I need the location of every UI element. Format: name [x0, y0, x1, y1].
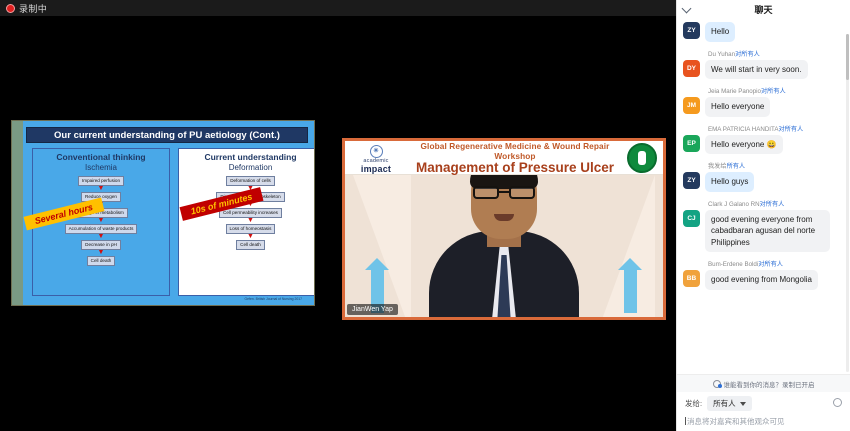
- slide-citation: Gefen. British Journal of Nursing 2017: [245, 297, 302, 301]
- un-globe-icon: ✷: [370, 145, 383, 158]
- workshop-title: Management of Pressure Ulcer: [403, 160, 627, 175]
- sender-name: Bum-Erdene Boldi: [708, 261, 758, 268]
- column-heading: Current understanding Deformation: [179, 149, 315, 173]
- person-info-icon: [713, 380, 721, 388]
- avatar: JM: [683, 97, 700, 114]
- column-heading-text: Conventional thinking: [56, 152, 145, 162]
- chat-send-to-row: 发给: 所有人: [677, 392, 850, 413]
- chat-scrollbar[interactable]: [846, 34, 849, 372]
- chat-message: EMA PATRICIA HANDITA对所有人EPHello everyone…: [683, 124, 840, 155]
- chat-message-list[interactable]: ZYHelloDu Yuhan对所有人DYWe will start in ve…: [677, 18, 850, 374]
- chat-message-bubble: We will start in very soon.: [705, 60, 808, 80]
- chevron-down-icon: [740, 402, 746, 406]
- chat-scrollbar-thumb[interactable]: [846, 34, 849, 80]
- avatar: ZY: [683, 172, 700, 189]
- sender-name: Du Yuhan: [708, 51, 735, 58]
- speaker-name-tag: JianWen Yap: [347, 304, 398, 315]
- chat-message: 我发给所有人ZYHello guys: [683, 161, 840, 192]
- chat-message-sender: Jeia Marie Panopio对所有人: [708, 86, 840, 95]
- chat-message-row: EPHello everyone 😀: [683, 135, 840, 155]
- slide-title: Our current understanding of PU aetiolog…: [26, 127, 308, 143]
- avatar: DY: [683, 60, 700, 77]
- chat-compose-placeholder: 消息将对嘉宾和其他观众可见: [687, 417, 785, 426]
- chat-message-bubble: Hello everyone 😀: [705, 135, 783, 155]
- chat-message-sender: 我发给所有人: [708, 161, 840, 170]
- slide-content: Our current understanding of PU aetiolog…: [11, 120, 315, 306]
- chat-header: 聊天: [677, 0, 850, 18]
- chat-compose-input[interactable]: 消息将对嘉宾和其他观众可见: [677, 413, 850, 431]
- organization-emblem-icon: [627, 143, 657, 173]
- background-arrow-right: [624, 269, 637, 313]
- chat-message-sender: EMA PATRICIA HANDITA对所有人: [708, 124, 840, 133]
- banner-titles: Global Regenerative Medicine & Wound Rep…: [403, 141, 627, 175]
- speaker-glasses-right: [509, 186, 535, 199]
- chat-messages-container: ZYHelloDu Yuhan对所有人DYWe will start in ve…: [683, 22, 840, 290]
- sender-recipient: 所有人: [727, 163, 746, 170]
- flow-node: Cell death: [87, 256, 116, 266]
- chat-message: Du Yuhan对所有人DYWe will start in very soon…: [683, 49, 840, 80]
- slide-column-current: Current understanding Deformation Deform…: [178, 148, 315, 296]
- chat-message: Jeia Marie Panopio对所有人JMHello everyone: [683, 86, 840, 117]
- sender-recipient: 对所有人: [758, 261, 783, 268]
- chat-message-row: BBgood evening from Mongolia: [683, 270, 840, 290]
- sender-name: Clark J Galano RN: [708, 201, 760, 208]
- send-to-label: 发给:: [685, 398, 702, 409]
- column-subheading-text: Deformation: [229, 163, 273, 172]
- chat-message-bubble: Hello everyone: [705, 97, 770, 117]
- slide-left-bar: [12, 121, 23, 305]
- speaker-glasses-left: [473, 186, 499, 199]
- avatar: BB: [683, 270, 700, 287]
- chat-panel: 聊天 ZYHelloDu Yuhan对所有人DYWe will start in…: [676, 0, 850, 431]
- chat-footer: 谁能看到你的消息？录制已开启 发给: 所有人 消息将对嘉宾和其他观众可见: [677, 374, 850, 431]
- chat-message-bubble: good evening from Mongolia: [705, 270, 818, 290]
- avatar: CJ: [683, 210, 700, 227]
- chat-message-sender: Du Yuhan对所有人: [708, 49, 840, 58]
- chat-message: Clark J Galano RN对所有人CJgood evening ever…: [683, 199, 840, 253]
- shared-slide-tile[interactable]: Our current understanding of PU aetiolog…: [5, 116, 321, 312]
- send-to-value: 所有人: [713, 398, 736, 409]
- sender-recipient: 对所有人: [760, 201, 785, 208]
- speaker-person: [424, 175, 584, 317]
- sender-name: EMA PATRICIA HANDITA: [708, 126, 778, 133]
- chat-message-sender: Clark J Galano RN对所有人: [708, 199, 840, 208]
- sender-recipient: 对所有人: [735, 51, 760, 58]
- video-frame: ✷ academic impact Global Regenerative Me…: [342, 138, 666, 320]
- meeting-window: 录制中 Our current understanding of PU aeti…: [0, 0, 850, 431]
- chat-message: ZYHello: [683, 22, 840, 42]
- chat-message-row: CJgood evening everyone from cabadbaran …: [683, 210, 840, 253]
- avatar: ZY: [683, 22, 700, 39]
- sender-recipient: 对所有人: [778, 126, 803, 133]
- chat-privacy-notice-text: 谁能看到你的消息？录制已开启: [724, 379, 815, 389]
- column-heading: Conventional thinking Ischemia: [33, 149, 169, 173]
- chat-message-bubble: good evening everyone from cabadbaran ag…: [705, 210, 830, 253]
- chat-message: Bum-Erdene Boldi对所有人BBgood evening from …: [683, 259, 840, 290]
- send-to-dropdown[interactable]: 所有人: [707, 396, 752, 411]
- video-stage: Our current understanding of PU aetiolog…: [0, 16, 676, 431]
- speaker-video-tile[interactable]: ✷ academic impact Global Regenerative Me…: [338, 134, 672, 326]
- avatar: EP: [683, 135, 700, 152]
- recording-bar: 录制中: [0, 0, 676, 16]
- workshop-banner: ✷ academic impact Global Regenerative Me…: [345, 141, 663, 175]
- smiley-icon[interactable]: [833, 398, 842, 407]
- flow-node: Cell death: [236, 240, 265, 250]
- chat-privacy-notice[interactable]: 谁能看到你的消息？录制已开启: [677, 375, 850, 392]
- recording-label: 录制中: [19, 2, 47, 15]
- chat-message-bubble: Hello guys: [705, 172, 754, 192]
- chat-message-row: ZYHello: [683, 22, 840, 42]
- chat-message-bubble: Hello: [705, 22, 735, 42]
- chat-message-sender: Bum-Erdene Boldi对所有人: [708, 259, 840, 268]
- chat-message-row: DYWe will start in very soon.: [683, 60, 840, 80]
- sender-name: Jeia Marie Panopio: [708, 88, 761, 95]
- text-cursor: [685, 417, 686, 425]
- logo-line-2: impact: [349, 165, 403, 174]
- sender-name: 我发给: [708, 163, 727, 170]
- record-dot-icon: [6, 4, 15, 13]
- sender-recipient: 对所有人: [761, 88, 786, 95]
- workshop-subtitle: Global Regenerative Medicine & Wound Rep…: [403, 141, 627, 161]
- un-academic-impact-logo: ✷ academic impact: [345, 141, 403, 174]
- video-background: [345, 175, 663, 317]
- chat-message-row: JMHello everyone: [683, 97, 840, 117]
- chat-message-row: ZYHello guys: [683, 172, 840, 192]
- column-heading-text: Current understanding: [204, 152, 296, 162]
- chat-title: 聊天: [677, 3, 850, 16]
- column-subheading-text: Ischemia: [85, 163, 117, 172]
- speaker-glasses-bridge: [499, 191, 509, 193]
